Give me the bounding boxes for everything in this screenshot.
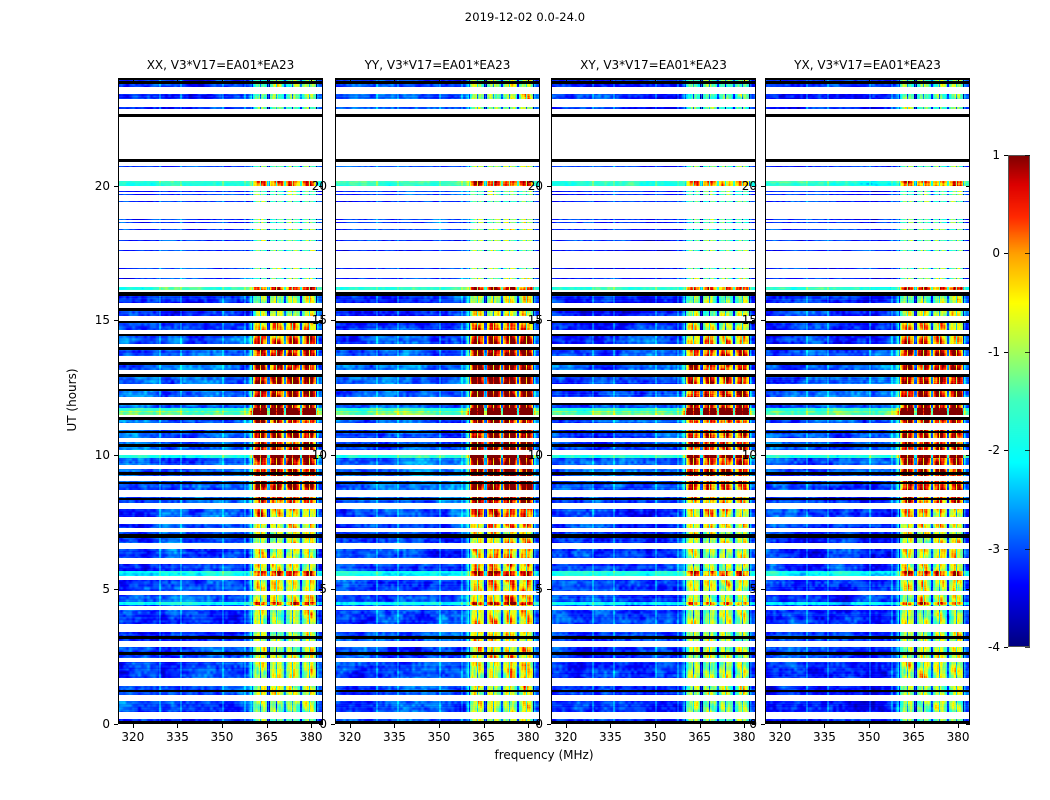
colorbar-tick-label: 1 — [964, 148, 1000, 162]
y-tick-label: 15 — [295, 313, 327, 327]
panel-yx-title: YX, V3*V17=EA01*EA23 — [735, 58, 1000, 72]
panel-yx-xtick-top — [824, 78, 825, 82]
y-tick-label: 0 — [78, 717, 110, 731]
panel-yy-ytick — [331, 186, 335, 187]
colorbar-tick-label: 0 — [964, 246, 1000, 260]
panel-xy-heatmap — [551, 78, 756, 724]
colorbar-tick — [1004, 352, 1008, 353]
panel-xy-ytick — [547, 186, 551, 187]
panel-yx-xtick-top — [958, 78, 959, 82]
panel-xx-ytick — [114, 320, 118, 321]
panel-xy-xtick-top — [744, 78, 745, 82]
x-tick-label: 350 — [644, 730, 667, 744]
x-tick-label: 365 — [255, 730, 278, 744]
y-tick-label: 5 — [295, 582, 327, 596]
y-tick-label: 5 — [725, 582, 757, 596]
panel-xx-ytick — [114, 589, 118, 590]
panel-xx-ytick — [114, 186, 118, 187]
panel-xy-ytick — [547, 589, 551, 590]
y-tick-label: 5 — [78, 582, 110, 596]
colorbar-tick-inner — [1025, 253, 1030, 254]
panel-xy-xtick — [566, 724, 567, 728]
panel-yy-xtick — [394, 724, 395, 728]
colorbar-tick-label: -1 — [964, 345, 1000, 359]
panel-yx-xtick-top — [914, 78, 915, 82]
panel-xx-xtick-top — [311, 78, 312, 82]
panel-xy-ytick — [547, 320, 551, 321]
panel-yx-ytick — [761, 589, 765, 590]
panel-xy-xtick — [655, 724, 656, 728]
colorbar-tick-label: -3 — [964, 542, 1000, 556]
panel-yx-xtick-top — [780, 78, 781, 82]
colorbar-tick — [1004, 253, 1008, 254]
panel-xx-xtick-top — [177, 78, 178, 82]
x-tick-label: 335 — [813, 730, 836, 744]
panel-yx-ytick-right — [966, 186, 970, 187]
x-tick-label: 350 — [858, 730, 881, 744]
panel-xx-xtick-top — [133, 78, 134, 82]
panel-yy-xtick-top — [484, 78, 485, 82]
y-tick-label: 0 — [295, 717, 327, 731]
y-tick-label: 20 — [78, 179, 110, 193]
y-tick-label: 15 — [78, 313, 110, 327]
y-tick-label: 0 — [511, 717, 543, 731]
figure-suptitle: 2019-12-02 0.0-24.0 — [0, 10, 1050, 24]
panel-yx-ytick — [761, 455, 765, 456]
y-tick-label: 5 — [511, 582, 543, 596]
panel-yy-ytick — [331, 724, 335, 725]
panel-yy[interactable]: YY, V3*V17=EA01*EA23 — [335, 78, 540, 724]
x-tick-label: 335 — [383, 730, 406, 744]
y-tick-label: 10 — [511, 448, 543, 462]
panel-yx-xtick — [780, 724, 781, 728]
panel-xy-xtick — [610, 724, 611, 728]
colorbar-tick-label: -2 — [964, 443, 1000, 457]
y-tick-label: 20 — [725, 179, 757, 193]
panel-xy-xtick-top — [566, 78, 567, 82]
panel-yx-ytick-right — [966, 589, 970, 590]
colorbar-tick-inner — [1025, 647, 1030, 648]
x-axis-label: frequency (MHz) — [118, 748, 970, 762]
y-axis-label: UT (hours) — [65, 340, 79, 460]
x-tick-label: 365 — [688, 730, 711, 744]
panel-yx[interactable]: YX, V3*V17=EA01*EA23 — [765, 78, 970, 724]
x-tick-label: 335 — [166, 730, 189, 744]
panel-xx-xtick-top — [267, 78, 268, 82]
panel-yx-ytick — [761, 186, 765, 187]
x-tick-label: 350 — [211, 730, 234, 744]
panel-xy-xtick-top — [610, 78, 611, 82]
x-tick-label: 335 — [599, 730, 622, 744]
x-tick-label: 320 — [338, 730, 361, 744]
panel-xx-xtick — [267, 724, 268, 728]
panel-yx-heatmap — [765, 78, 970, 724]
x-tick-label: 365 — [902, 730, 925, 744]
panel-yy-ytick — [331, 455, 335, 456]
y-tick-label: 10 — [725, 448, 757, 462]
panel-yy-xtick — [484, 724, 485, 728]
x-tick-label: 365 — [472, 730, 495, 744]
figure-canvas: 2019-12-02 0.0-24.0 XX, V3*V17=EA01*EA23… — [0, 0, 1050, 800]
panel-yx-ytick-right — [966, 320, 970, 321]
x-tick-label: 380 — [947, 730, 970, 744]
x-tick-label: 320 — [768, 730, 791, 744]
panel-yx-ytick — [761, 320, 765, 321]
panel-yy-xtick-top — [439, 78, 440, 82]
panel-xx-ytick — [114, 724, 118, 725]
y-tick-label: 20 — [295, 179, 327, 193]
y-tick-label: 10 — [295, 448, 327, 462]
colorbar-tick — [1004, 450, 1008, 451]
panel-yy-xtick-top — [528, 78, 529, 82]
panel-yx-xtick-top — [869, 78, 870, 82]
x-tick-label: 320 — [554, 730, 577, 744]
panel-yy-ytick — [331, 589, 335, 590]
panel-xy-xtick-top — [700, 78, 701, 82]
panel-xx-xtick-top — [222, 78, 223, 82]
panel-yy-ytick — [331, 320, 335, 321]
x-tick-label: 380 — [300, 730, 323, 744]
panel-yy-xtick-top — [350, 78, 351, 82]
colorbar-gradient — [1008, 155, 1030, 647]
panel-yy-xtick — [439, 724, 440, 728]
colorbar-tick-inner — [1025, 155, 1030, 156]
panel-yx-ytick-right — [966, 724, 970, 725]
panel-yx-xtick — [914, 724, 915, 728]
panel-yx-xtick — [824, 724, 825, 728]
colorbar-tick — [1004, 549, 1008, 550]
y-tick-label: 15 — [511, 313, 543, 327]
panel-xx[interactable]: XX, V3*V17=EA01*EA23 — [118, 78, 323, 724]
y-tick-label: 20 — [511, 179, 543, 193]
colorbar-tick-label: -4 — [964, 640, 1000, 654]
panel-xx-ytick — [114, 455, 118, 456]
x-tick-label: 350 — [428, 730, 451, 744]
panel-xx-xtick — [133, 724, 134, 728]
x-tick-label: 380 — [517, 730, 540, 744]
colorbar-tick-inner — [1025, 352, 1030, 353]
panel-xy-xtick — [700, 724, 701, 728]
colorbar-tick — [1004, 647, 1008, 648]
colorbar-tick-inner — [1025, 549, 1030, 550]
y-tick-label: 10 — [78, 448, 110, 462]
y-tick-label: 0 — [725, 717, 757, 731]
panel-xx-heatmap — [118, 78, 323, 724]
panel-xy-xtick-top — [655, 78, 656, 82]
panel-xy-ytick — [547, 455, 551, 456]
panel-yx-xtick — [869, 724, 870, 728]
colorbar — [1008, 155, 1030, 647]
panel-yy-heatmap — [335, 78, 540, 724]
x-tick-label: 320 — [121, 730, 144, 744]
panel-yx-ytick — [761, 724, 765, 725]
x-tick-label: 380 — [733, 730, 756, 744]
panel-yx-xtick — [958, 724, 959, 728]
colorbar-tick-inner — [1025, 450, 1030, 451]
panel-xx-xtick — [177, 724, 178, 728]
colorbar-tick — [1004, 155, 1008, 156]
panel-xy[interactable]: XY, V3*V17=EA01*EA23 — [551, 78, 756, 724]
panel-yy-xtick — [350, 724, 351, 728]
panel-yy-xtick-top — [394, 78, 395, 82]
y-tick-label: 15 — [725, 313, 757, 327]
panel-xx-xtick — [222, 724, 223, 728]
panel-xy-ytick — [547, 724, 551, 725]
